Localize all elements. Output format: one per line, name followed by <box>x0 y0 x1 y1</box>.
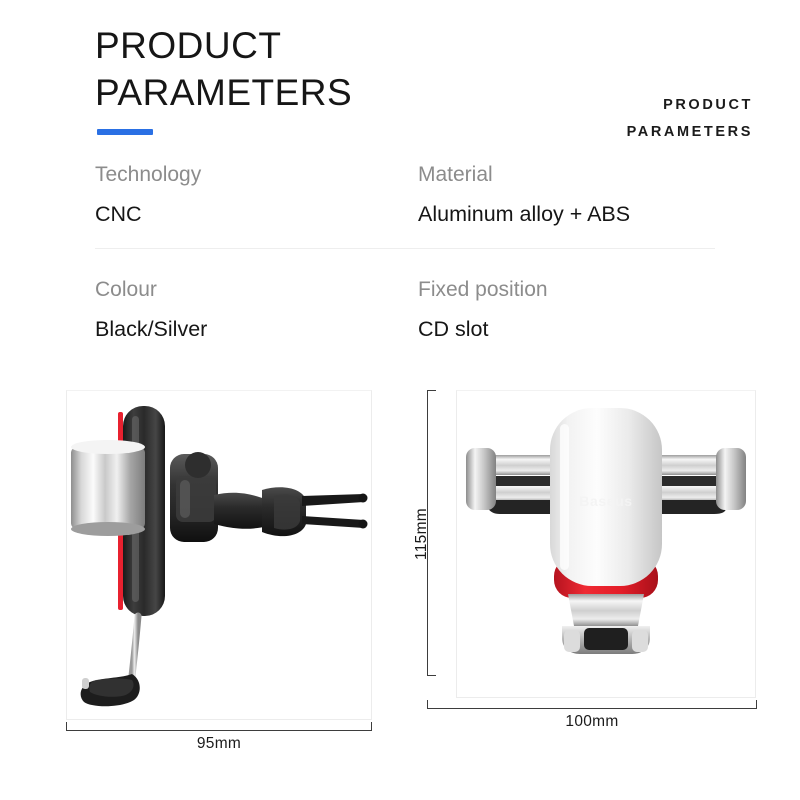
spec-cell-fixed-position: Fixed position CD slot <box>405 275 715 363</box>
spec-value: Aluminum alloy + ABS <box>418 199 715 229</box>
dimension-label-width-right: 100mm <box>427 713 757 731</box>
spec-value: CNC <box>95 199 405 229</box>
spec-row: Technology CNC Material Aluminum alloy +… <box>95 160 715 248</box>
page-subtitle: PRODUCT PARAMETERS <box>627 92 753 146</box>
dimension-line-width-left <box>66 722 372 731</box>
spec-cell-technology: Technology CNC <box>95 160 405 248</box>
spec-row: Colour Black/Silver Fixed position CD sl… <box>95 275 715 363</box>
spec-label: Technology <box>95 160 405 190</box>
page-title-line-2: PARAMETERS <box>95 69 525 116</box>
page-title: PRODUCT PARAMETERS <box>95 22 525 116</box>
dimension-label-width-left: 95mm <box>66 735 372 753</box>
dimension-line-width-right <box>427 700 757 709</box>
guide-frame <box>66 390 372 720</box>
spec-label: Material <box>418 160 715 190</box>
page-subtitle-line-1: PRODUCT <box>627 92 753 119</box>
figure-side-view: 95mm <box>60 388 380 788</box>
page-title-line-1: PRODUCT <box>95 22 525 69</box>
spec-table: Technology CNC Material Aluminum alloy +… <box>0 160 800 363</box>
product-parameters-page: PRODUCT PARAMETERS PRODUCT PARAMETERS Te… <box>0 0 800 800</box>
spec-cell-material: Material Aluminum alloy + ABS <box>405 160 715 248</box>
dimension-label-height-right: 115mm <box>413 484 431 584</box>
page-subtitle-line-2: PARAMETERS <box>627 119 753 146</box>
spec-value: Black/Silver <box>95 314 405 344</box>
accent-bar <box>97 129 153 135</box>
page-header: PRODUCT PARAMETERS PRODUCT PARAMETERS <box>0 0 800 150</box>
figure-front-view: Baseus 115mm 100mm <box>430 388 760 788</box>
spec-divider <box>95 248 715 249</box>
spec-label: Fixed position <box>418 275 715 305</box>
spec-cell-colour: Colour Black/Silver <box>95 275 405 363</box>
spec-value: CD slot <box>418 314 715 344</box>
product-figures: 95mm <box>0 388 800 788</box>
guide-frame <box>456 390 756 698</box>
spec-label: Colour <box>95 275 405 305</box>
